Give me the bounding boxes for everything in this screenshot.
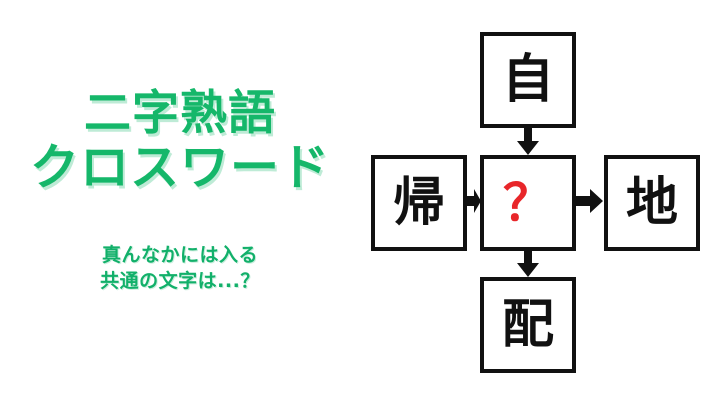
arrow-right-icon-center-to-right — [576, 189, 604, 213]
kanji-glyph-top: 自 — [502, 54, 554, 106]
arrow-down-icon-top-to-center — [516, 128, 540, 156]
kanji-glyph-bottom: 配 — [502, 299, 554, 351]
kanji-cell-center-unknown[interactable]: ？ — [480, 155, 576, 251]
slide-canvas: 二字熟語 クロスワード 真んなかには入る 共通の文字は...？ 自 帰 ？ 地 … — [0, 0, 720, 405]
kanji-cross-diagram: 自 帰 ？ 地 配 — [0, 0, 720, 405]
question-mark-glyph: ？ — [503, 178, 553, 228]
arrow-right-icon-left-to-center — [467, 189, 481, 213]
arrow-down-icon-center-to-bottom — [516, 251, 540, 278]
kanji-glyph-right: 地 — [626, 177, 678, 229]
kanji-cell-left: 帰 — [371, 155, 467, 251]
kanji-glyph-left: 帰 — [393, 177, 445, 229]
kanji-cell-right: 地 — [604, 155, 700, 251]
kanji-cell-bottom: 配 — [480, 277, 576, 373]
kanji-cell-top: 自 — [480, 32, 576, 128]
